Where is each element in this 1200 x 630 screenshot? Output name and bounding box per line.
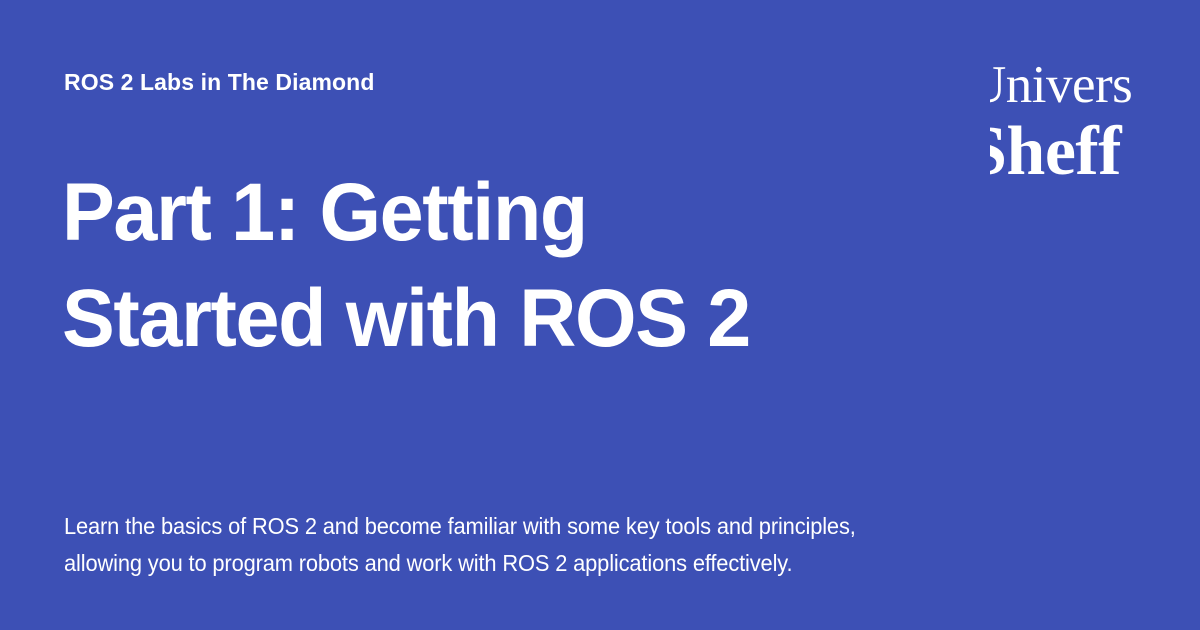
slide-description: Learn the basics of ROS 2 and become fam…: [64, 508, 882, 582]
slide-description-line-1: Learn the basics of ROS 2 and become fam…: [64, 508, 882, 545]
slide-card: ROS 2 Labs in The Diamond Part 1: Gettin…: [0, 0, 1200, 630]
page-title: Part 1: Getting Started with ROS 2: [62, 160, 824, 372]
page-title-line-1: Part 1: Getting: [62, 167, 587, 258]
logo-wordmark: Univers Sheff: [990, 52, 1132, 190]
slide-description-line-2: allowing you to program robots and work …: [64, 545, 882, 582]
university-of-sheffield-logo: Univers Sheff: [990, 52, 1142, 202]
page-title-line-2: Started with ROS 2: [62, 273, 750, 364]
slide-eyebrow-label: ROS 2 Labs in The Diamond: [64, 68, 374, 98]
logo-line-1: Univers: [990, 52, 1132, 118]
logo-line-2: Sheff: [990, 114, 1132, 190]
